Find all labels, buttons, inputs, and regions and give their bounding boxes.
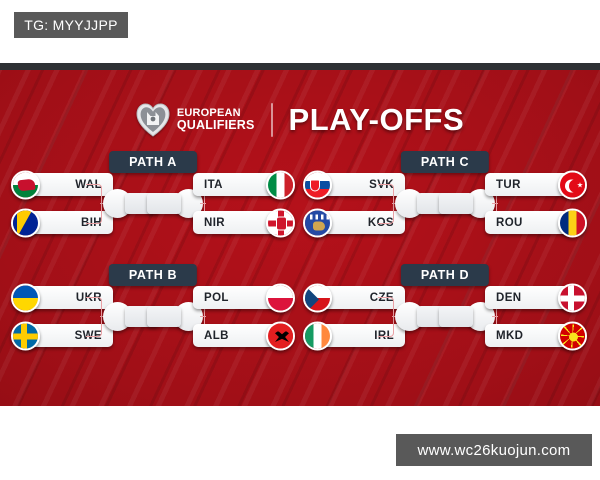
path-b-label: PATH B <box>109 264 197 286</box>
flag-poland <box>266 283 295 312</box>
team-code: MKD <box>496 330 523 342</box>
header-divider <box>271 103 273 137</box>
connector-right-stub <box>200 316 206 317</box>
flag-northern-ireland <box>266 208 295 237</box>
team-code: TUR <box>496 179 521 191</box>
connector-left <box>378 184 394 224</box>
flag-ukraine <box>11 283 40 312</box>
flag-ireland <box>303 321 332 350</box>
flag-wales <box>11 170 40 199</box>
playoffs-poster: EUROPEAN QUALIFIERS PLAY-OFFS PATH A WAL… <box>0 63 600 406</box>
path-a-bracket: PATH A WAL BIH ITA <box>8 151 298 263</box>
poster-top-strip <box>0 63 600 70</box>
path-c-label: PATH C <box>401 151 489 173</box>
team-chip-tur[interactable]: TUR <box>485 173 572 196</box>
flag-slovakia <box>303 170 332 199</box>
path-d-bracket: PATH D CZE IRL DEN <box>300 264 590 376</box>
logo-line-2: QUALIFIERS <box>177 119 255 132</box>
flag-italy <box>266 170 295 199</box>
team-chip-mkd[interactable]: MKD <box>485 324 572 347</box>
poster-header: EUROPEAN QUALIFIERS PLAY-OFFS <box>0 94 600 146</box>
flag-north-macedonia <box>558 321 587 350</box>
team-code: ROU <box>496 217 523 229</box>
team-chip-rou[interactable]: ROU <box>485 211 572 234</box>
team-code: NIR <box>204 217 225 229</box>
team-chip-ita[interactable]: ITA <box>193 173 280 196</box>
flag-czechia <box>303 283 332 312</box>
slot-tab <box>439 193 473 214</box>
connector-right-stub <box>492 203 498 204</box>
page-title: PLAY-OFFS <box>289 102 465 138</box>
flag-albania <box>266 321 295 350</box>
slot-tab <box>147 193 181 214</box>
flag-sweden <box>11 321 40 350</box>
team-chip-pol[interactable]: POL <box>193 286 280 309</box>
team-code: POL <box>204 292 229 304</box>
team-code: ALB <box>204 330 229 342</box>
team-chip-nir[interactable]: NIR <box>193 211 280 234</box>
flag-denmark <box>558 283 587 312</box>
path-c-bracket: PATH C SVK KOS TUR <box>300 151 590 263</box>
slot-tab <box>439 306 473 327</box>
team-code: ITA <box>204 179 223 191</box>
team-chip-den[interactable]: DEN <box>485 286 572 309</box>
flag-kosovo <box>303 208 332 237</box>
team-code: DEN <box>496 292 521 304</box>
slot-tab <box>147 306 181 327</box>
team-chip-alb[interactable]: ALB <box>193 324 280 347</box>
flag-turkey <box>558 170 587 199</box>
watermark-top-left: TG: MYYJJPP <box>14 12 128 38</box>
path-d-label: PATH D <box>401 264 489 286</box>
flag-bosnia <box>11 208 40 237</box>
uefa-heart-logo-icon <box>136 103 170 137</box>
logo-wordmark: EUROPEAN QUALIFIERS <box>177 108 255 132</box>
path-a-label: PATH A <box>109 151 197 173</box>
playoff-bracket-grid: PATH A WAL BIH ITA <box>0 151 600 406</box>
connector-left <box>86 297 102 337</box>
watermark-bottom-right: www.wc26kuojun.com <box>396 434 592 466</box>
connector-left <box>378 297 394 337</box>
connector-right-stub <box>200 203 206 204</box>
european-qualifiers-logo: EUROPEAN QUALIFIERS <box>136 103 255 137</box>
connector-left <box>86 184 102 224</box>
connector-right-stub <box>492 316 498 317</box>
flag-romania <box>558 208 587 237</box>
path-b-bracket: PATH B UKR SWE POL <box>8 264 298 376</box>
